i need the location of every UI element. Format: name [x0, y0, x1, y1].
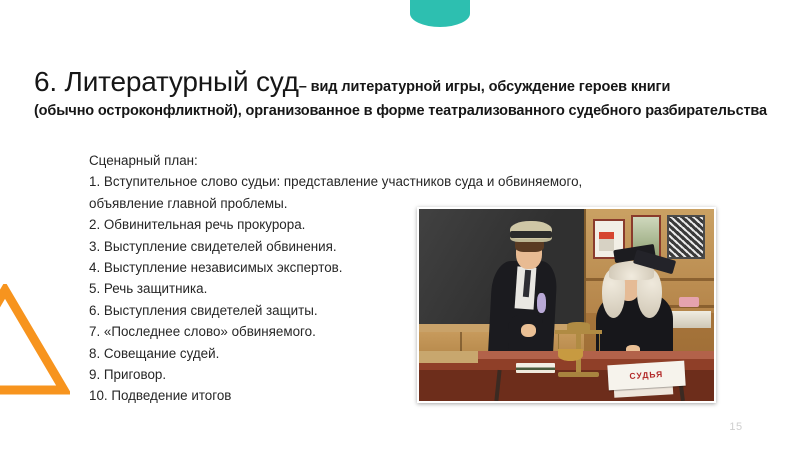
slide-canvas: 6. Литературный суд– вид литературной иг…: [0, 0, 800, 450]
orange-triangle-decoration: [0, 284, 70, 399]
list-item: 5. Речь защитника.: [89, 278, 419, 299]
photo-pink-object: [679, 297, 700, 307]
photo-judge-nameplate-label: СУДЬЯ: [629, 369, 663, 381]
page-subtitle-part-1: – вид литературной игры, обсуждение геро…: [299, 79, 671, 95]
headline-line-1: 6. Литературный суд– вид литературной иг…: [34, 66, 776, 97]
photo-scales-crown: [567, 322, 591, 330]
photo-poster-3: [667, 215, 705, 259]
photo-scales-string-right: [599, 332, 600, 351]
list-item: 7. «Последнее слово» обвиняемого.: [89, 321, 419, 342]
teal-semicircle-decoration: [410, 0, 470, 27]
scenario-plan-heading: Сценарный план:: [89, 150, 419, 171]
photo-paper-stack: [667, 311, 711, 328]
page-subtitle-part-2: (обычно остроконфликтной), организованно…: [34, 103, 776, 120]
list-item: 8. Совещание судей.: [89, 343, 419, 364]
photo-scales-base: [558, 372, 599, 377]
photo-frame: СУДЬЯ: [417, 207, 716, 403]
headline-block: 6. Литературный суд– вид литературной иг…: [34, 66, 776, 121]
photo-table-left-panel: [419, 351, 478, 363]
photo-prosecutor-hand-upper: [521, 324, 536, 336]
photo-judge-nameplate: СУДЬЯ: [607, 360, 685, 390]
list-item: 6. Выступления свидетелей защиты.: [89, 300, 419, 321]
classroom-mock-trial-photo: СУДЬЯ: [419, 209, 714, 401]
list-item: 4. Выступление независимых экспертов.: [89, 257, 419, 278]
photo-book: [516, 363, 554, 374]
list-item: объявление главной проблемы.: [89, 193, 419, 214]
scenario-plan-block: Сценарный план: 1. Вступительное слово с…: [89, 150, 419, 407]
page-title: 6. Литературный суд: [34, 66, 299, 97]
list-item: 2. Обвинительная речь прокурора.: [89, 214, 419, 235]
list-item: 9. Приговор.: [89, 364, 419, 385]
photo-prosecutor-hat-band: [510, 231, 551, 238]
list-item: 3. Выступление свидетелей обвинения.: [89, 236, 419, 257]
list-item: 10. Подведение итогов: [89, 385, 419, 406]
photo-scales-pan: [558, 349, 583, 361]
photo-prosecutor-ribbon: [537, 293, 546, 312]
page-number: 15: [724, 421, 748, 433]
list-item: 1. Вступительное слово судьи: представле…: [89, 171, 419, 192]
